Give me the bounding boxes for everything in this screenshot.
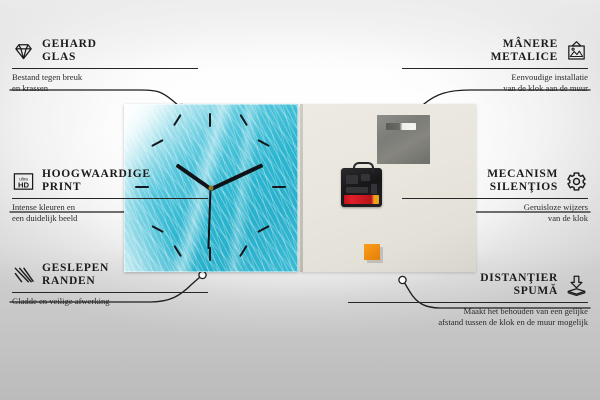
feature-title: MÂNERE METALICE — [491, 38, 558, 64]
feature-subtitle: Bestand tegen breuk en krassen — [12, 72, 198, 94]
feature-geslepen-randen: GESLEPEN RANDEN Gladde en veilige afwerk… — [12, 262, 208, 307]
feature-distantier-spuma: DISTANŢIER SPUMĂ Maakt het behouden van … — [348, 272, 588, 328]
beveled-edges-icon — [12, 264, 35, 287]
panel-left-edge — [300, 104, 303, 272]
feature-underline — [402, 68, 588, 69]
feature-title: MECANISM SILENŢIOS — [487, 168, 558, 194]
feature-underline — [402, 198, 588, 199]
feature-title: DISTANŢIER SPUMĂ — [480, 272, 558, 298]
feature-hoogwaardige-print: ultra HD HOOGWAARDIGE PRINT Intense kleu… — [12, 168, 208, 224]
diamond-icon — [12, 40, 35, 63]
gear-icon — [565, 170, 588, 193]
feature-gehard-glas: GEHARD GLAS Bestand tegen breuk en krass… — [12, 38, 198, 94]
spacer-arrow-icon — [565, 274, 588, 297]
feature-underline — [12, 292, 208, 293]
feature-underline — [348, 302, 588, 303]
feature-title: GEHARD GLAS — [42, 38, 97, 64]
feature-mecanism-silentios: MECANISM SILENŢIOS Geruisloze wijzers va… — [402, 168, 588, 224]
clock-mechanism-box — [341, 168, 382, 207]
feature-subtitle: Geruisloze wijzers van de klok — [402, 202, 588, 224]
hanger-keyhole-slot — [386, 123, 416, 130]
mechanism-hang-loop — [353, 162, 374, 173]
foam-spacer — [364, 244, 380, 260]
battery — [344, 195, 379, 204]
ultra-hd-icon: ultra HD — [12, 170, 35, 193]
metal-hanger-plate — [377, 115, 430, 164]
feature-subtitle: Gladde en veilige afwerking — [12, 296, 208, 307]
feature-subtitle: Eenvoudige installatie van de klok aan d… — [402, 72, 588, 94]
feature-underline — [12, 198, 208, 199]
feature-title: GESLEPEN RANDEN — [42, 262, 109, 288]
feature-subtitle: Intense kleuren en een duidelijk beeld — [12, 202, 208, 224]
feature-underline — [12, 68, 198, 69]
infographic-canvas: GEHARD GLAS Bestand tegen breuk en krass… — [0, 0, 600, 400]
feature-title: HOOGWAARDIGE PRINT — [42, 168, 151, 194]
feature-subtitle: Maakt het behouden van een gelijke afsta… — [348, 306, 588, 328]
svg-text:HD: HD — [18, 180, 30, 189]
feature-manere-metalice: MÂNERE METALICE Eenvoudige installatie v… — [402, 38, 588, 94]
picture-frame-hanger-icon — [565, 40, 588, 63]
